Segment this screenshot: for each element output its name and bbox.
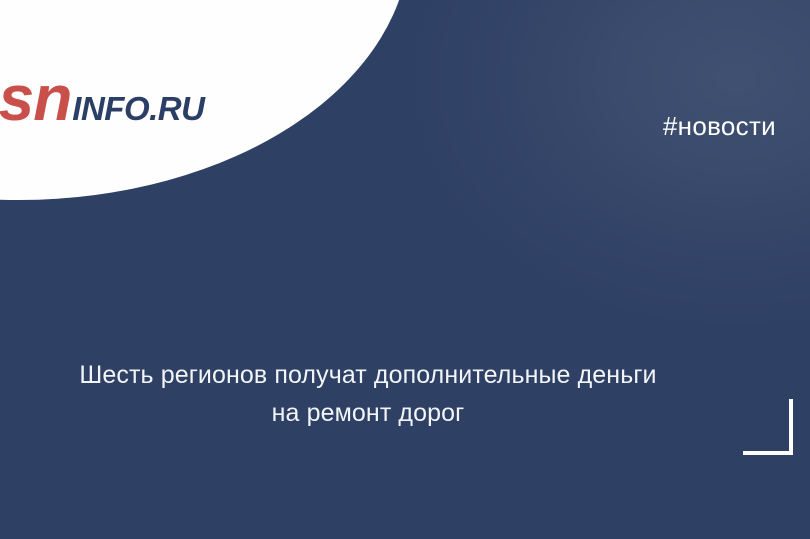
headline: Шесть регионов получат дополнительные де… [0, 356, 736, 432]
site-logo[interactable]: asn INFO.RU [0, 66, 204, 128]
logo-inforu-text: INFO.RU [72, 92, 204, 125]
bracket-horizontal-line [743, 451, 793, 455]
hashtag-label[interactable]: #новости [663, 111, 776, 142]
headline-line-1: Шесть регионов получат дополнительные де… [0, 356, 736, 394]
logo-asn-text: asn [0, 66, 71, 130]
corner-bracket-decoration [743, 399, 793, 455]
headline-line-2: на ремонт дорог [0, 394, 736, 432]
news-card: asn INFO.RU #новости Шесть регионов полу… [0, 0, 810, 539]
bracket-vertical-line [789, 399, 793, 455]
